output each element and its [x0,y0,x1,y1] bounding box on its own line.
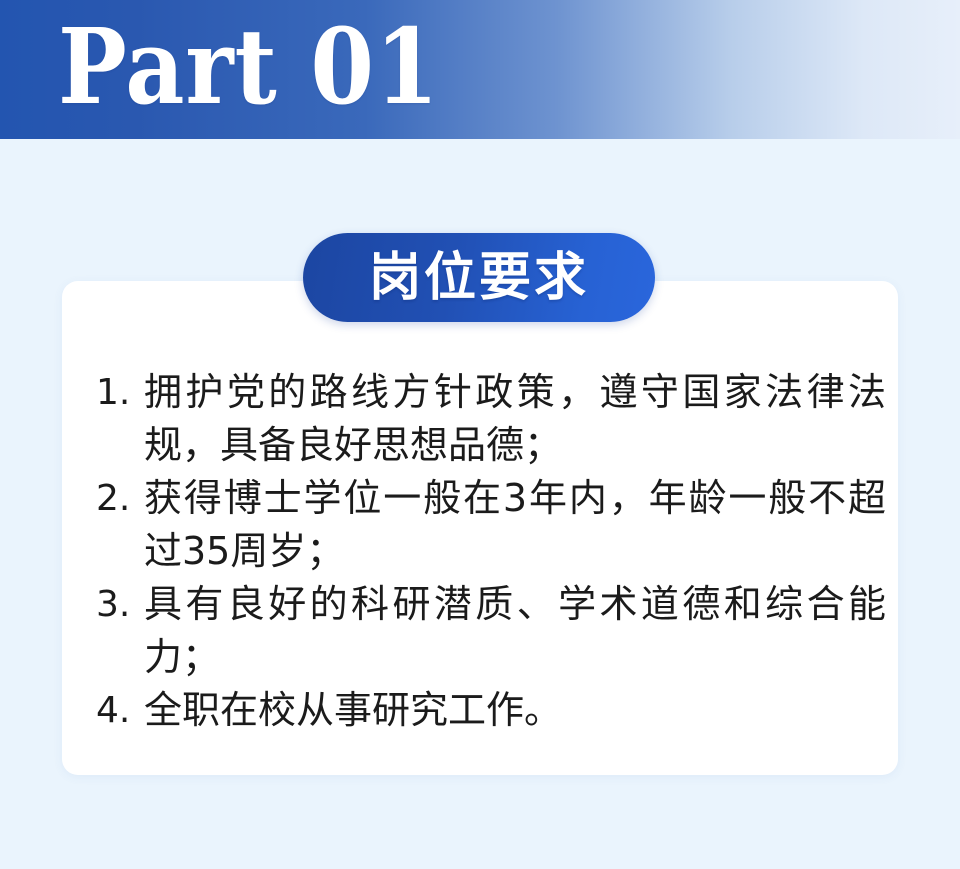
list-item: 1. 拥护党的路线方针政策，遵守国家法律法规，具备良好思想品德； [96,366,886,472]
section-badge: 岗位要求 [303,233,655,322]
list-item-number: 2. [96,472,144,525]
poster-page: Part 01 岗位要求 1. 拥护党的路线方针政策，遵守国家法律法规，具备良好… [0,0,960,869]
list-item-number: 1. [96,366,144,419]
header-banner: Part 01 [0,0,960,139]
list-item: 4. 全职在校从事研究工作。 [96,684,886,737]
part-title: Part 01 [58,6,440,128]
list-item: 3. 具有良好的科研潜质、学术道德和综合能力； [96,578,886,684]
list-item-number: 4. [96,684,144,737]
requirements-list: 1. 拥护党的路线方针政策，遵守国家法律法规，具备良好思想品德； 2. 获得博士… [96,366,886,737]
list-item: 2. 获得博士学位一般在3年内，年龄一般不超过35周岁； [96,472,886,578]
list-item-text: 获得博士学位一般在3年内，年龄一般不超过35周岁； [144,472,886,578]
list-item-text: 具有良好的科研潜质、学术道德和综合能力； [144,578,886,684]
section-badge-label: 岗位要求 [369,250,589,306]
list-item-number: 3. [96,578,144,631]
list-item-text: 拥护党的路线方针政策，遵守国家法律法规，具备良好思想品德； [144,366,886,472]
list-item-text: 全职在校从事研究工作。 [144,684,886,737]
